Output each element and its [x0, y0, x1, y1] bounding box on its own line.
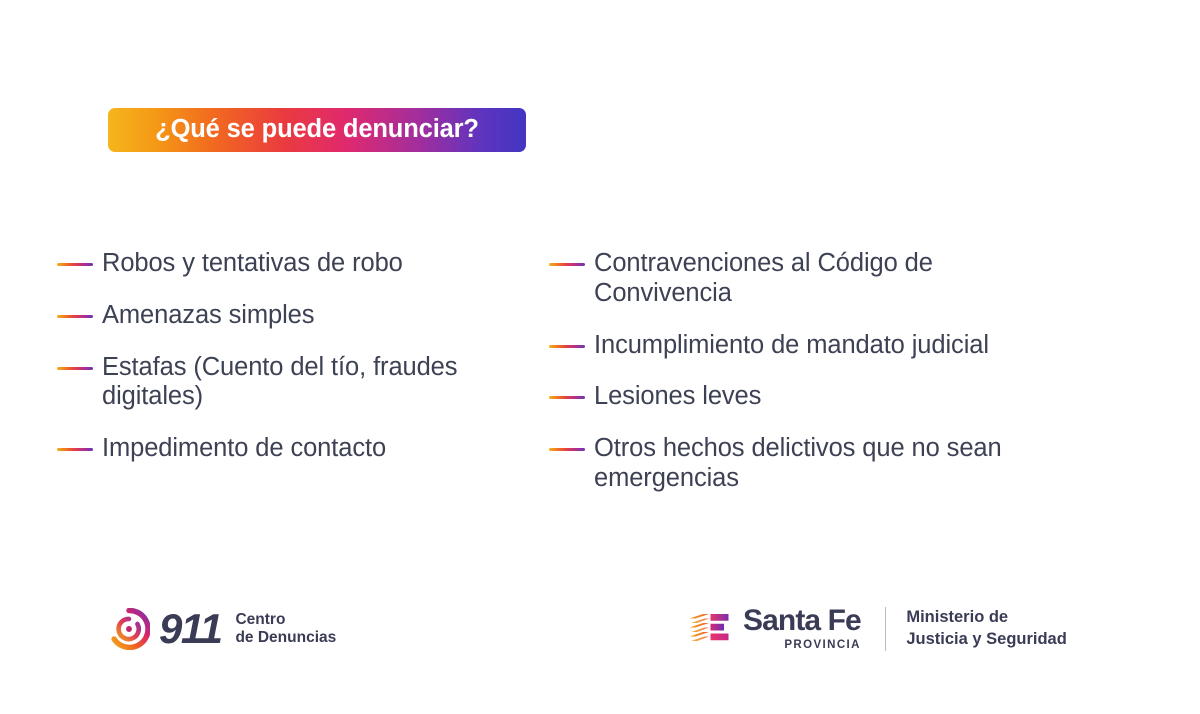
page-title: ¿Qué se puede denunciar? — [155, 117, 479, 143]
swirl-911-icon — [108, 608, 150, 650]
logo-911-caption-line2: de Denuncias — [235, 629, 336, 646]
dash-bullet-icon — [57, 315, 93, 318]
list-item-label: Estafas (Cuento del tío, fraudes digital… — [102, 353, 537, 413]
list-item-label: Amenazas simples — [102, 301, 314, 331]
list-item: Amenazas simples — [57, 301, 537, 331]
bullet-column-right: Contravenciones al Código de Convivencia… — [549, 249, 1079, 516]
ministry-label-line1: Ministerio de — [906, 608, 1008, 626]
list-item: Impedimento de contacto — [57, 434, 537, 464]
list-item-label: Incumplimiento de mandato judicial — [594, 331, 989, 361]
list-item-label: Otros hechos delictivos que no sean emer… — [594, 434, 1064, 494]
ministry-label: Ministerio de Justicia y Seguridad — [906, 607, 1066, 650]
slide-root: ¿Qué se puede denunciar? Robos y tentati… — [0, 0, 1200, 714]
list-item: Estafas (Cuento del tío, fraudes digital… — [57, 353, 537, 413]
dash-bullet-icon — [549, 396, 585, 399]
ministry-label-line2: Justicia y Seguridad — [906, 630, 1066, 648]
dash-bullet-icon — [549, 448, 585, 451]
logo-911-caption: Centro de Denuncias — [235, 611, 336, 647]
dash-bullet-icon — [549, 263, 585, 266]
title-badge: ¿Qué se puede denunciar? — [108, 108, 526, 152]
list-item: Incumplimiento de mandato judicial — [549, 331, 1079, 361]
dash-bullet-icon — [57, 263, 93, 266]
logo-divider — [885, 607, 887, 651]
bullet-columns: Robos y tentativas de robo Amenazas simp… — [0, 249, 1200, 516]
dash-bullet-icon — [549, 345, 585, 348]
logo-911: 911 Centro de Denuncias — [108, 608, 336, 650]
santa-fe-emblem-icon — [688, 611, 736, 647]
dash-bullet-icon — [57, 448, 93, 451]
list-item-label: Contravenciones al Código de Convivencia — [594, 249, 1064, 309]
bullet-column-left: Robos y tentativas de robo Amenazas simp… — [57, 249, 537, 516]
footer: 911 Centro de Denuncias — [0, 598, 1200, 668]
dash-bullet-icon — [57, 367, 93, 370]
logo-911-caption-line1: Centro — [235, 611, 285, 628]
list-item-label: Robos y tentativas de robo — [102, 249, 403, 279]
list-item: Otros hechos delictivos que no sean emer… — [549, 434, 1079, 494]
santa-fe-subtitle: PROVINCIA — [784, 640, 861, 652]
list-item: Lesiones leves — [549, 382, 1079, 412]
list-item: Robos y tentativas de robo — [57, 249, 537, 279]
santa-fe-name: Santa Fe — [743, 606, 861, 636]
logo-santa-fe: Santa Fe PROVINCIA Ministerio de Justici… — [688, 606, 1067, 652]
santa-fe-wordmark: Santa Fe PROVINCIA — [743, 606, 861, 652]
list-item-label: Impedimento de contacto — [102, 434, 386, 464]
list-item-label: Lesiones leves — [594, 382, 761, 412]
list-item: Contravenciones al Código de Convivencia — [549, 249, 1079, 309]
logo-911-number: 911 — [159, 608, 221, 650]
